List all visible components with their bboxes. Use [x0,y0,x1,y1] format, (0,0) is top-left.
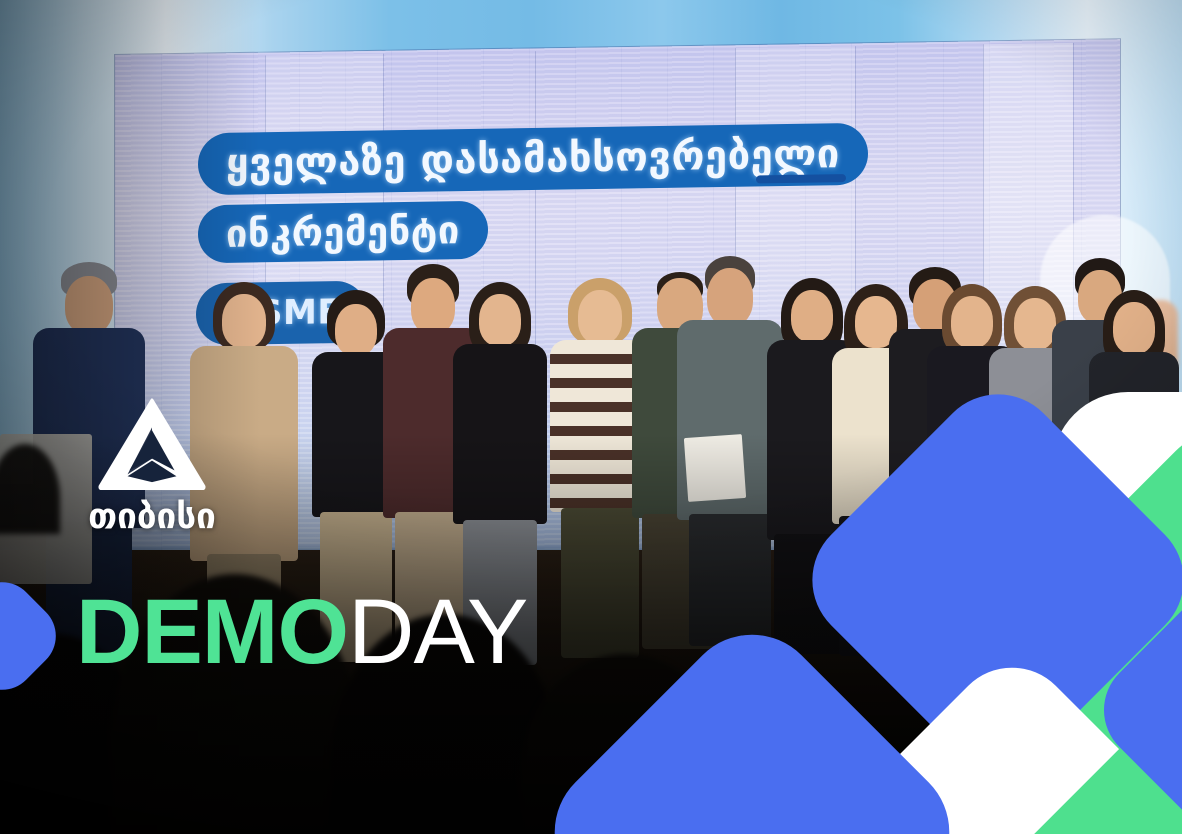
brand-wordmark: თიბისი [72,500,232,535]
paper-sheet [684,434,746,502]
person [1088,290,1180,642]
audience-silhouette [520,654,730,834]
poster-canvas: ყველაზე დასამახსოვრებელი ინკრემენტი SME [0,0,1182,834]
title-day: DAY [348,581,527,683]
page-title: DEMODAY [76,586,527,678]
brand-lockup: თიბისი [72,398,232,535]
title-demo: DEMO [76,581,348,683]
tbc-triangle-logo-icon [98,398,206,490]
